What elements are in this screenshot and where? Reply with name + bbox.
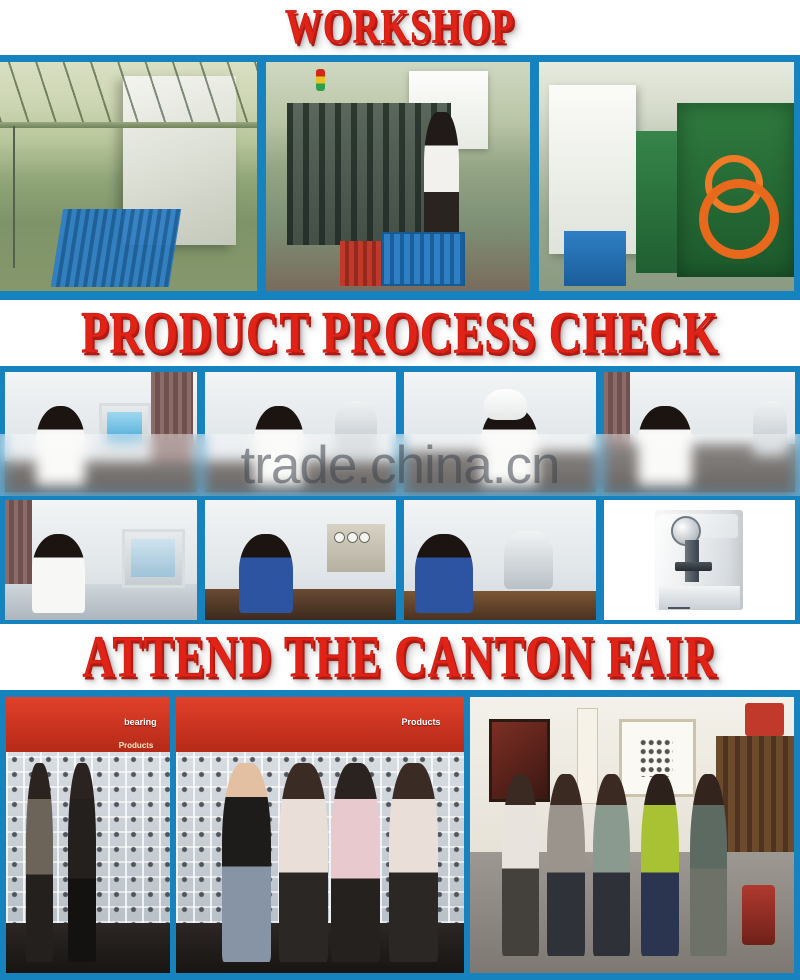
guest-figure: [593, 774, 630, 956]
wall-rail: [0, 122, 257, 129]
operator-figure: [32, 534, 86, 613]
banner-text-products: Products: [401, 717, 440, 727]
banner-text-products: Products: [119, 741, 154, 750]
technician-figure: [254, 406, 304, 485]
photo-operator-at-test-machine: [205, 500, 397, 620]
engineer-figure: [415, 534, 472, 613]
staff-figure: [279, 763, 328, 962]
process-heading: PRODUCT PROCESS CHECK: [81, 303, 719, 362]
tester-column: [685, 540, 699, 582]
ceiling-beams: [0, 62, 257, 122]
section-title-process: PRODUCT PROCESS CHECK: [0, 300, 800, 366]
photo-booth-visitors-two-men: bearing Products: [6, 697, 170, 973]
visitor-figure: [222, 763, 271, 962]
blue-machine-base: [564, 231, 625, 286]
photo-rockwell-hardness-tester: [604, 500, 796, 620]
workshop-photo-strip: [0, 55, 800, 300]
photo-inspector-at-computer: [5, 372, 197, 492]
signal-tower-lamp: [316, 69, 325, 91]
process-photo-grid: [0, 366, 800, 624]
support-pole: [13, 126, 15, 268]
screen: [131, 539, 175, 577]
booth-banner: Products: [176, 697, 464, 752]
photo-inspector-at-bench: [604, 372, 796, 492]
staff-figure: [68, 763, 96, 962]
tester-plate: [668, 607, 689, 609]
canton-heading: ATTEND THE CANTON FAIR: [82, 627, 717, 686]
blue-parts-crate: [382, 232, 465, 286]
visitor-figure: [389, 763, 438, 962]
photo-cnc-machine-hall: [0, 62, 257, 291]
photo-technician-with-microscope: [205, 372, 397, 492]
booth-banner: bearing Products: [6, 697, 170, 752]
banner-text-bearing: bearing: [124, 717, 157, 727]
operator-figure: [424, 112, 458, 240]
workshop-heading: WORKSHOP: [285, 3, 515, 52]
desk: [5, 461, 197, 492]
photo-assembly-line-operator: [266, 62, 530, 291]
section-title-workshop: WORKSHOP: [0, 0, 800, 55]
staff-figure: [331, 763, 380, 962]
visitor-figure: [26, 763, 54, 962]
photo-booth-group-four: Products: [176, 697, 464, 973]
green-machine-mid: [636, 131, 677, 273]
monitor-screen: [107, 412, 142, 443]
bench-instrument: [753, 401, 787, 456]
operator-figure: [239, 534, 293, 613]
calligraphy-scroll: [577, 708, 598, 804]
microscope: [335, 401, 377, 456]
photo-green-machines-row: [539, 62, 794, 291]
tester-head: [660, 514, 738, 538]
white-cap: [484, 389, 526, 420]
red-luggage: [742, 885, 774, 946]
red-parts-crate: [340, 241, 388, 287]
tester-anvil: [675, 562, 712, 571]
section-title-canton: ATTEND THE CANTON FAIR: [0, 624, 800, 690]
guest-figure: [690, 774, 727, 956]
photo-measuring-with-profile-projector: [5, 500, 197, 620]
crt-monitor: [99, 403, 151, 452]
guest-figure: [547, 774, 584, 956]
calligraphy-ink: [640, 739, 673, 776]
control-panel: [327, 524, 384, 572]
photo-office-group-five: [470, 697, 794, 973]
host-figure: [641, 774, 678, 956]
red-decoration: [745, 703, 784, 736]
orange-hose-coil: [699, 179, 779, 259]
projector-screen: [122, 529, 185, 588]
hardness-tester-body: [655, 510, 743, 611]
canton-photo-strip: bearing Products Products: [0, 690, 800, 980]
panel-dial: [347, 532, 358, 543]
photo-engineer-at-microscope: [404, 500, 596, 620]
promo-page: WORKSHOP: [0, 0, 800, 980]
white-machine: [549, 85, 636, 254]
inspector-figure: [36, 406, 86, 485]
inspector-figure: [638, 406, 692, 485]
bench: [205, 589, 397, 620]
panel-dial: [334, 532, 345, 543]
guest-figure: [502, 774, 539, 956]
photo-worker-in-white-cap: [404, 372, 596, 492]
stereo-microscope: [504, 531, 554, 589]
tester-base: [659, 586, 740, 610]
panel-dial: [359, 532, 370, 543]
